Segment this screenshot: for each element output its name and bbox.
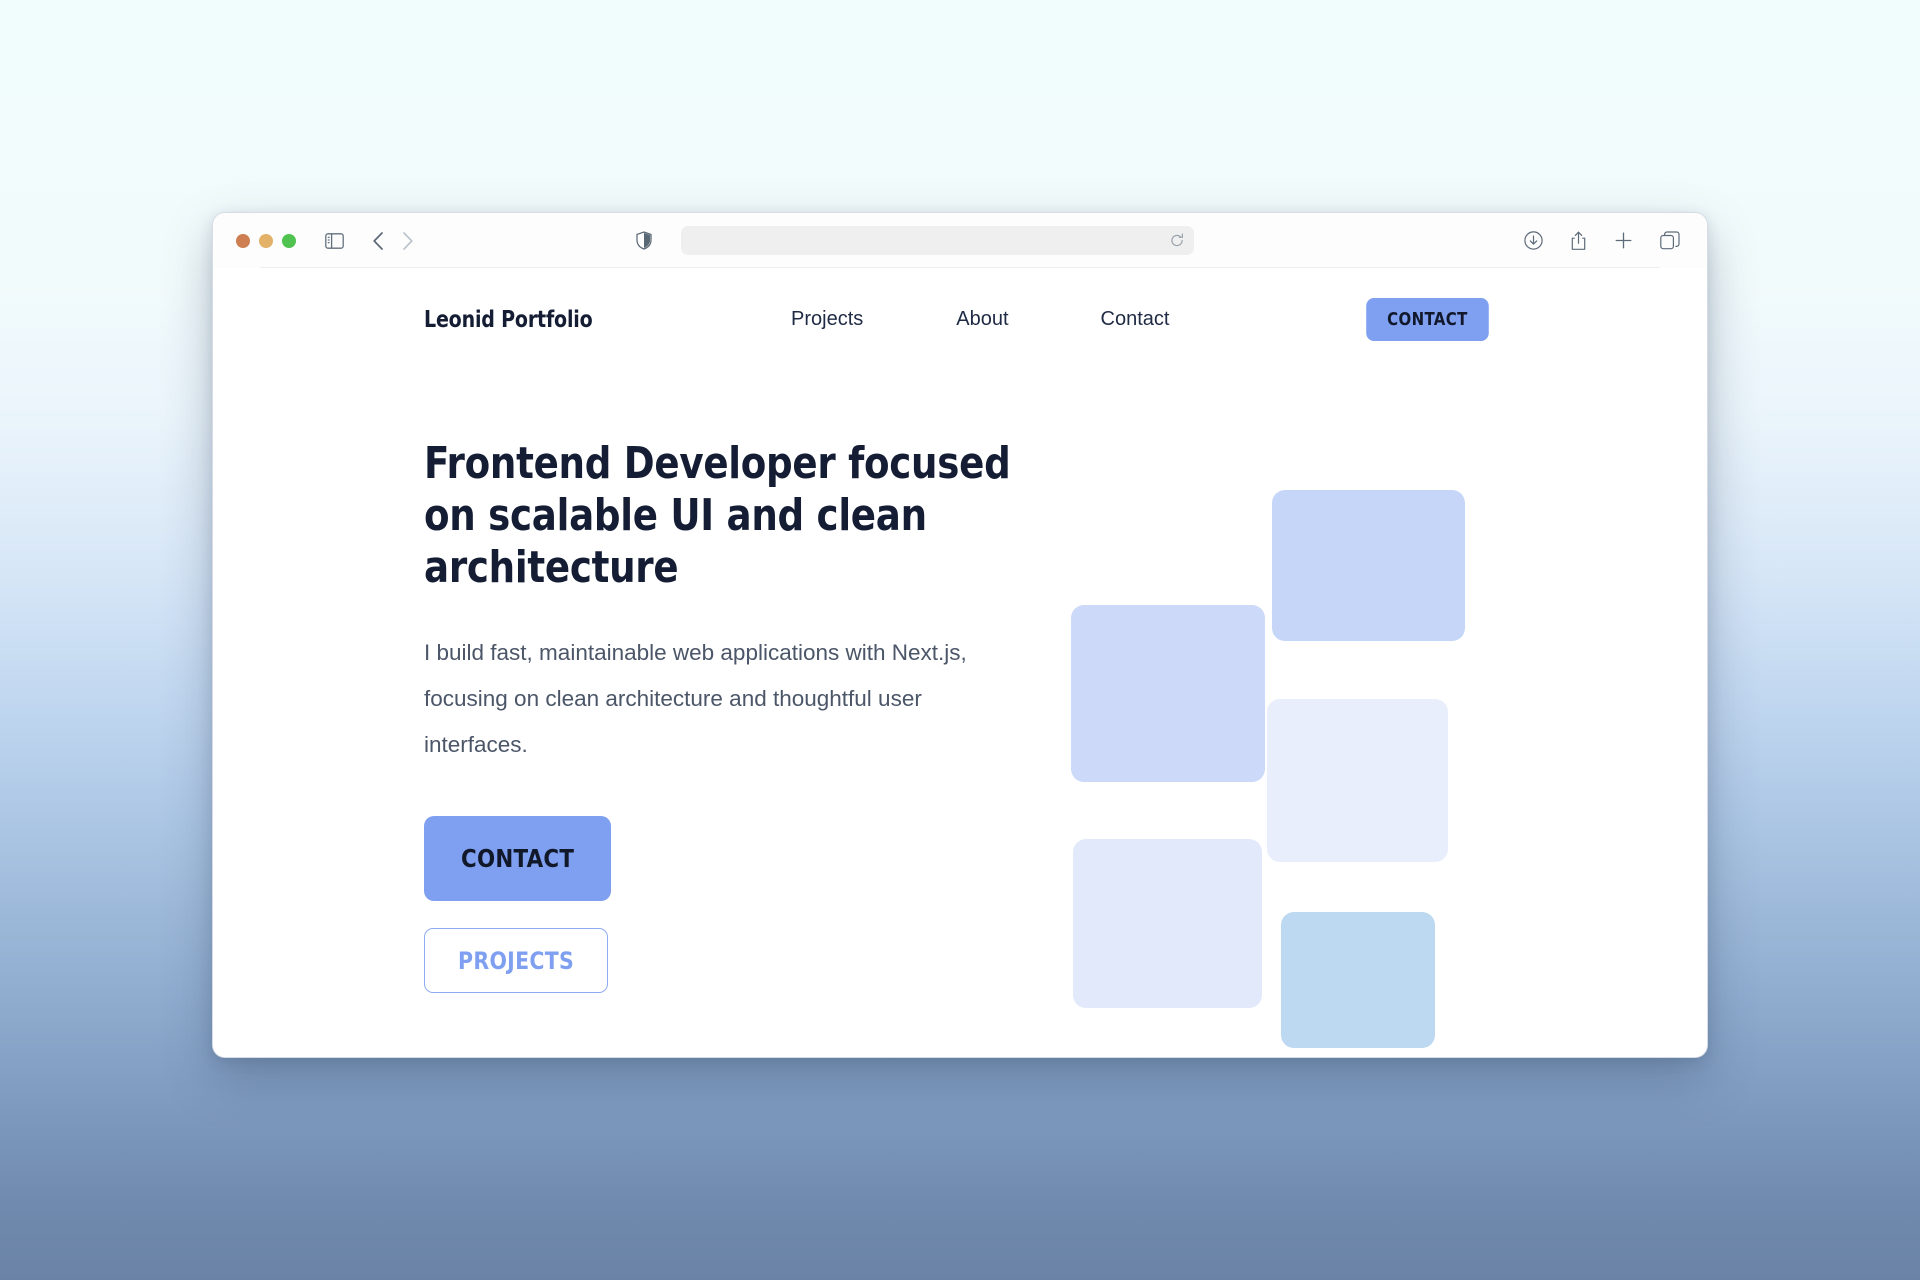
hero-contact-button-label: CONTACT	[461, 844, 574, 873]
page-content: Leonid Portfolio Projects About Contact …	[213, 268, 1707, 1058]
hero-projects-button[interactable]: PROJECTS	[424, 928, 608, 993]
decorative-square-5	[1281, 912, 1435, 1048]
brand-logo[interactable]: Leonid Portfolio	[424, 307, 593, 333]
browser-toolbar	[213, 213, 1707, 268]
privacy-shield-icon[interactable]	[636, 231, 652, 250]
site-navbar: Leonid Portfolio Projects About Contact …	[213, 268, 1707, 371]
nav-link-about[interactable]: About	[956, 308, 1008, 331]
sidebar-toggle-icon[interactable]	[325, 233, 344, 249]
reload-icon[interactable]	[1170, 233, 1184, 248]
share-icon[interactable]	[1570, 231, 1587, 251]
forward-chevron-icon[interactable]	[402, 231, 414, 251]
plus-icon[interactable]	[1614, 231, 1633, 250]
decorative-square-1	[1272, 490, 1465, 641]
hero-actions: CONTACT PROJECTS	[424, 816, 1024, 993]
nav-link-contact[interactable]: Contact	[1101, 308, 1170, 331]
decorative-square-2	[1071, 605, 1265, 782]
hero-projects-button-label: PROJECTS	[458, 947, 574, 975]
downloads-icon[interactable]	[1524, 231, 1543, 250]
decorative-square-4	[1073, 839, 1262, 1008]
toolbar-right-actions	[1524, 231, 1680, 251]
close-window-button[interactable]	[236, 234, 250, 248]
maximize-window-button[interactable]	[282, 234, 296, 248]
back-chevron-icon[interactable]	[372, 231, 384, 251]
hero-title: Frontend Developer focused on scalable U…	[424, 438, 1026, 594]
browser-window: Leonid Portfolio Projects About Contact …	[212, 212, 1708, 1058]
hero-contact-button[interactable]: CONTACT	[424, 816, 611, 901]
navbar-contact-button[interactable]: CONTACT	[1366, 298, 1488, 341]
nav-links: Projects About Contact	[791, 308, 1169, 331]
tab-overview-icon[interactable]	[1660, 231, 1680, 250]
nav-link-projects[interactable]: Projects	[791, 308, 863, 331]
hero-section: Frontend Developer focused on scalable U…	[424, 438, 1024, 993]
hero-subtitle: I build fast, maintainable web applicati…	[424, 630, 1024, 768]
traffic-lights	[236, 234, 296, 248]
decorative-square-3	[1267, 699, 1448, 862]
minimize-window-button[interactable]	[259, 234, 273, 248]
url-bar[interactable]	[681, 226, 1194, 255]
